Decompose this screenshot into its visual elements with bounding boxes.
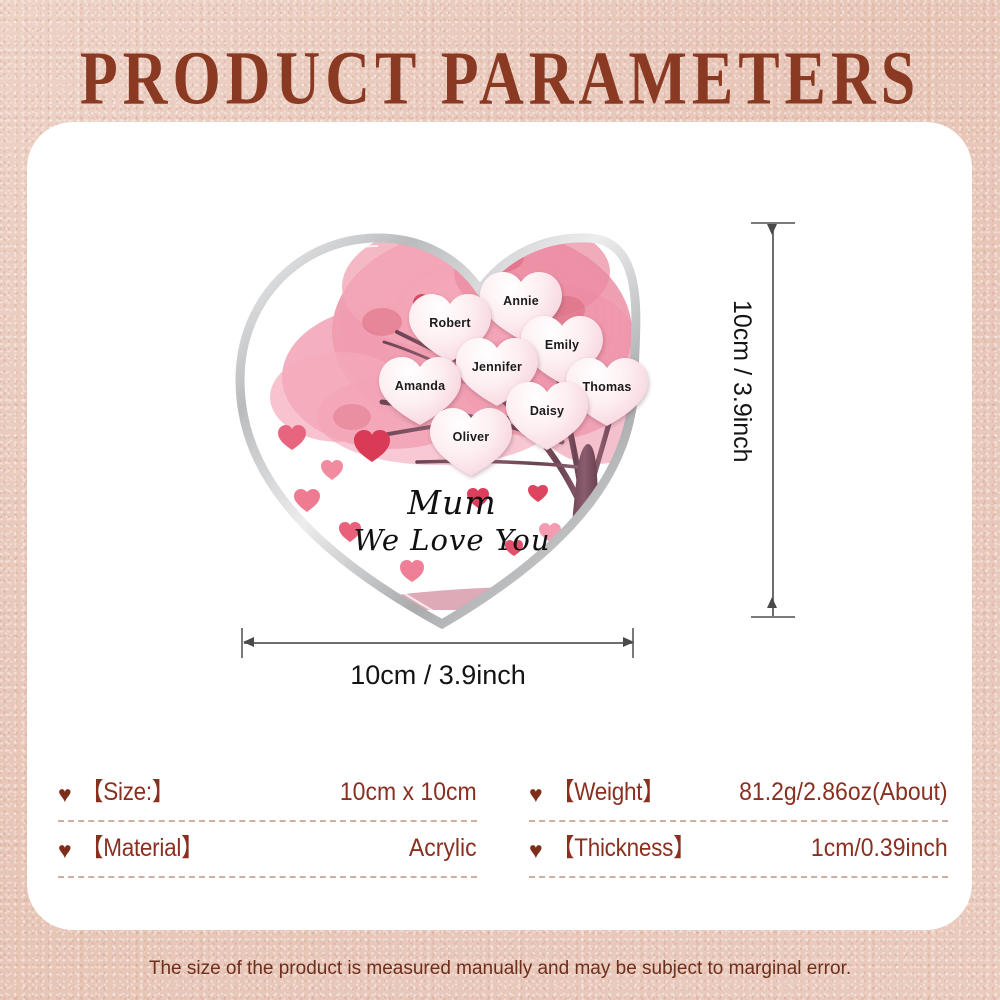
disclaimer-note: The size of the product is measured manu… bbox=[0, 958, 1000, 980]
arrow-right-icon bbox=[623, 637, 634, 647]
arrow-left-icon bbox=[243, 637, 254, 647]
name-heart: Daisy bbox=[504, 378, 590, 452]
height-dimension-line bbox=[760, 216, 788, 624]
name-heart-label: Amanda bbox=[395, 380, 446, 393]
name-heart: Oliver bbox=[428, 404, 514, 478]
spec-cell-thickness: ♥ 【Thickness】 1cm/0.39inch bbox=[529, 828, 948, 884]
arrow-up-icon bbox=[767, 224, 777, 235]
heart-icon: ♥ bbox=[529, 783, 543, 806]
name-heart-label: Emily bbox=[545, 339, 579, 352]
spec-divider bbox=[58, 820, 477, 822]
spec-material: ♥ 【Material】 Acrylic bbox=[58, 828, 477, 874]
spec-thickness-value: 1cm/0.39inch bbox=[811, 834, 948, 863]
spec-divider bbox=[529, 820, 948, 822]
spec-cell-size: ♥ 【Size:】 10cm x 10cm bbox=[58, 772, 477, 828]
spec-table: ♥ 【Size:】 10cm x 10cm ♥ 【Weight】 81.2g/2… bbox=[58, 772, 948, 884]
heart-icon: ♥ bbox=[58, 783, 72, 806]
spec-thickness: ♥ 【Thickness】 1cm/0.39inch bbox=[529, 828, 948, 874]
name-heart-label: Robert bbox=[429, 317, 470, 330]
spec-material-label: 【Material】 bbox=[81, 828, 203, 864]
product-image: AnnieRobertEmilyJenniferAmandaThomasDais… bbox=[232, 212, 652, 632]
spec-cell-material: ♥ 【Material】 Acrylic bbox=[58, 828, 477, 884]
page-title: PRODUCT PARAMETERS bbox=[0, 36, 1000, 123]
name-heart-label: Oliver bbox=[453, 431, 490, 444]
spec-divider bbox=[58, 876, 477, 878]
spec-size-value: 10cm x 10cm bbox=[340, 778, 477, 807]
spec-row-2: ♥ 【Material】 Acrylic ♥ 【Thickness】 1cm/0… bbox=[58, 828, 948, 884]
heart-icon: ♥ bbox=[529, 839, 543, 862]
spec-row-1: ♥ 【Size:】 10cm x 10cm ♥ 【Weight】 81.2g/2… bbox=[58, 772, 948, 828]
heart-icon: ♥ bbox=[58, 839, 72, 862]
name-heart-label: Daisy bbox=[530, 405, 564, 418]
spec-divider bbox=[529, 876, 948, 878]
height-dimension-label: 10cm / 3.9inch bbox=[727, 300, 756, 463]
name-heart-label: Annie bbox=[503, 295, 539, 308]
spec-weight-label: 【Weight】 bbox=[552, 772, 664, 808]
spec-material-value: Acrylic bbox=[409, 834, 477, 863]
width-dimension-line bbox=[238, 626, 638, 654]
width-dimension-label: 10cm / 3.9inch bbox=[238, 660, 638, 691]
product-parameters-page: PRODUCT PARAMETERS bbox=[0, 0, 1000, 1000]
spec-weight: ♥ 【Weight】 81.2g/2.86oz(About) bbox=[529, 772, 948, 818]
height-cap-bottom bbox=[751, 616, 795, 618]
spec-cell-weight: ♥ 【Weight】 81.2g/2.86oz(About) bbox=[529, 772, 948, 828]
spec-size: ♥ 【Size:】 10cm x 10cm bbox=[58, 772, 477, 818]
height-line bbox=[772, 224, 774, 616]
spec-size-label: 【Size:】 bbox=[81, 772, 174, 808]
spec-thickness-label: 【Thickness】 bbox=[552, 828, 695, 864]
spec-weight-value: 81.2g/2.86oz(About) bbox=[740, 778, 948, 807]
width-line bbox=[244, 642, 634, 644]
arrow-down-icon bbox=[767, 597, 777, 608]
name-heart-label: Jennifer bbox=[472, 361, 522, 374]
